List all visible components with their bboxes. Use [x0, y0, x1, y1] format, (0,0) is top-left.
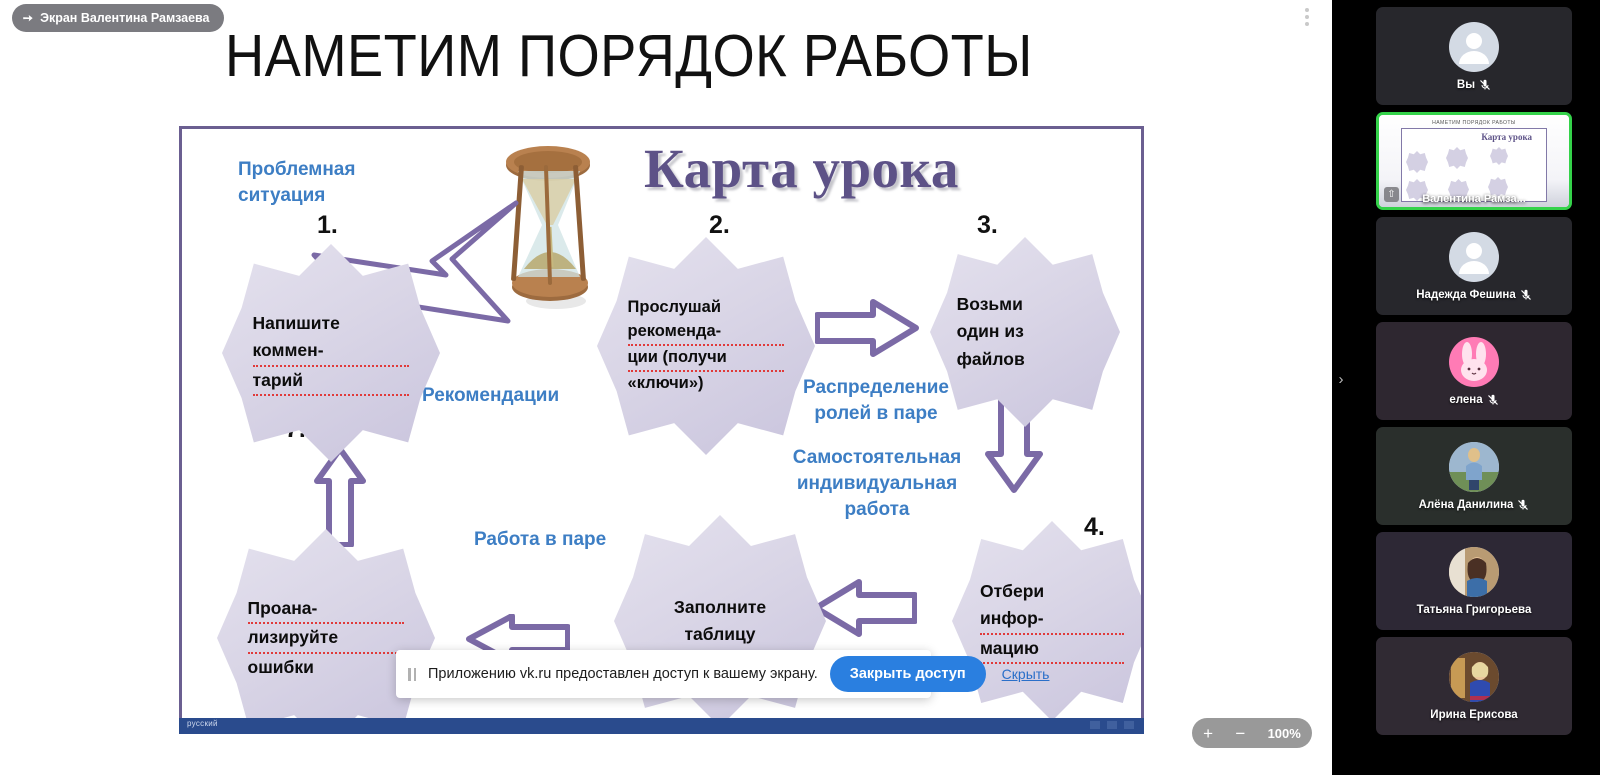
step-number-2: 2.: [709, 211, 730, 240]
status-bar-language: русский: [187, 719, 218, 728]
thumbnail-map-frame: Карта урока: [1401, 128, 1547, 202]
step-number-1: 1.: [317, 211, 338, 240]
step-node-4-text: Отбери инфор- мацию: [980, 578, 1124, 663]
thumbnail-node: [1490, 147, 1508, 165]
participants-rail[interactable]: Вы НАМЕТИМ ПОРЯДОК РАБОТЫ Карта урока: [1348, 0, 1600, 775]
participant-name-row: Алёна Данилина: [1419, 499, 1530, 511]
arrow-right-step2-to-step3: [815, 299, 920, 357]
step-number-3: 3.: [977, 211, 998, 240]
avatar: [1449, 232, 1499, 282]
shared-screen-stage[interactable]: НАМЕТИМ ПОРЯДОК РАБОТЫ Карта урока: [0, 0, 1332, 775]
zoom-out-button[interactable]: −: [1235, 725, 1245, 742]
screen-share-notification: Приложению vk.ru предоставлен доступ к в…: [396, 650, 931, 698]
participant-name: Валентина Рамза...: [1379, 193, 1569, 205]
participant-tile-screenshare[interactable]: НАМЕТИМ ПОРЯДОК РАБОТЫ Карта урока ⇧ Вал…: [1376, 112, 1572, 210]
step-node-1-text: Напишите коммен- тарий: [253, 310, 410, 395]
participant-name: Надежда Фешина: [1416, 289, 1516, 301]
step-node-2: Прослушай рекоменда- ции (получи «ключи»…: [597, 237, 815, 455]
step-node-2-text: Прослушай рекоменда- ции (получи «ключи»…: [628, 296, 785, 396]
step-node-5-text: Заполните таблицу: [644, 594, 797, 648]
zoom-in-button[interactable]: +: [1203, 725, 1213, 742]
mic-muted-icon: [1520, 289, 1532, 301]
hide-notification-link[interactable]: Скрыть: [998, 666, 1054, 682]
participant-name-row: Вы: [1457, 79, 1491, 91]
participant-name-row: Татьяна Григорьева: [1417, 604, 1532, 616]
screen-share-message: Приложению vk.ru предоставлен доступ к в…: [428, 666, 818, 682]
step-node-4: Отбери инфор- мацию: [952, 521, 1144, 721]
participant-tile-nadezhda[interactable]: Надежда Фешина: [1376, 217, 1572, 315]
chevron-right-icon[interactable]: ›: [1334, 366, 1348, 392]
presentation-slide: НАМЕТИМ ПОРЯДОК РАБОТЫ Карта урока: [0, 0, 1332, 740]
participant-tile-irina[interactable]: Ирина Ерисова: [1376, 637, 1572, 735]
participant-name: Татьяна Григорьева: [1417, 604, 1532, 616]
caption-problem-situation: Проблемная ситуация: [238, 157, 398, 209]
sorter-view-icon[interactable]: [1107, 721, 1117, 729]
mic-muted-icon: [1517, 499, 1529, 511]
avatar: [1449, 442, 1499, 492]
thumbnail-node: [1406, 151, 1428, 173]
pin-icon: ➚: [20, 9, 37, 26]
avatar: [1449, 652, 1499, 702]
photo-avatar: [1449, 547, 1499, 597]
participant-name: Ирина Ерисова: [1430, 709, 1517, 721]
caption-pair-work: Работа в паре: [474, 527, 654, 553]
participant-tile-you[interactable]: Вы: [1376, 7, 1572, 105]
participant-name-row: елена: [1449, 394, 1498, 406]
step-node-3: Возьми один из файлов: [930, 237, 1120, 427]
powerpoint-status-bar[interactable]: русский: [179, 718, 1144, 734]
avatar: [1449, 337, 1499, 387]
lesson-map-image: Карта урока: [179, 126, 1144, 726]
avatar: [1449, 547, 1499, 597]
zoom-level-label: 100%: [1268, 726, 1301, 741]
lesson-map-heading: Карта урока: [644, 137, 959, 200]
video-call-window: НАМЕТИМ ПОРЯДОК РАБОТЫ Карта урока: [0, 0, 1600, 775]
thumbnail-slide-title: НАМЕТИМ ПОРЯДОК РАБОТЫ: [1384, 120, 1565, 126]
participant-name: Алёна Данилина: [1419, 499, 1514, 511]
step-number-4: 4.: [1084, 513, 1105, 542]
mic-muted-icon: [1479, 79, 1491, 91]
avatar: [1449, 22, 1499, 72]
bunny-avatar-icon: [1449, 337, 1499, 387]
photo-avatar: [1449, 442, 1499, 492]
participant-name: елена: [1449, 394, 1482, 406]
participant-tile-alena[interactable]: Алёна Данилина: [1376, 427, 1572, 525]
mic-muted-icon: [1487, 394, 1499, 406]
page-title: НАМЕТИМ ПОРЯДОК РАБОТЫ: [225, 22, 1053, 90]
zoom-control[interactable]: + − 100%: [1192, 718, 1312, 748]
step-node-3-text: Возьми один из файлов: [957, 291, 1094, 372]
participant-tile-elena[interactable]: елена: [1376, 322, 1572, 420]
step-node-6-text: Проана- лизируйте ошибки: [248, 595, 405, 680]
arrow-up-step6-to-step1: [314, 447, 366, 547]
participant-name-row: Надежда Фешина: [1416, 289, 1532, 301]
photo-avatar: [1449, 652, 1499, 702]
caption-role-distribution: Распределение ролей в паре: [786, 375, 966, 427]
thumbnail-map-heading: Карта урока: [1481, 132, 1532, 142]
participant-name: Вы: [1457, 79, 1475, 91]
participant-tile-tatyana[interactable]: Татьяна Григорьева: [1376, 532, 1572, 630]
caption-individual-work: Самостоятельная индивидуальная работа: [782, 445, 972, 524]
participant-name-row: Ирина Ерисова: [1430, 709, 1517, 721]
thumbnail-node: [1446, 147, 1468, 169]
step-node-1: Напишите коммен- тарий: [222, 244, 440, 462]
normal-view-icon[interactable]: [1090, 721, 1100, 729]
pinned-screen-badge[interactable]: ➚ Экран Валентина Рамзаева: [12, 4, 224, 32]
pinned-screen-label: Экран Валентина Рамзаева: [40, 11, 209, 25]
reading-view-icon[interactable]: [1124, 721, 1134, 729]
screen-share-thumbnail: НАМЕТИМ ПОРЯДОК РАБОТЫ Карта урока ⇧ Вал…: [1379, 115, 1569, 207]
person-placeholder-icon: [1449, 22, 1499, 72]
more-options-icon[interactable]: [1300, 0, 1314, 34]
status-bar-view-icons[interactable]: [1090, 721, 1134, 729]
person-placeholder-icon: [1449, 232, 1499, 282]
arrow-left-step4-to-step5: [812, 579, 917, 637]
stop-sharing-button[interactable]: Закрыть доступ: [830, 656, 986, 692]
caption-recommendations: Рекомендации: [422, 383, 622, 409]
pause-icon[interactable]: [408, 668, 416, 681]
